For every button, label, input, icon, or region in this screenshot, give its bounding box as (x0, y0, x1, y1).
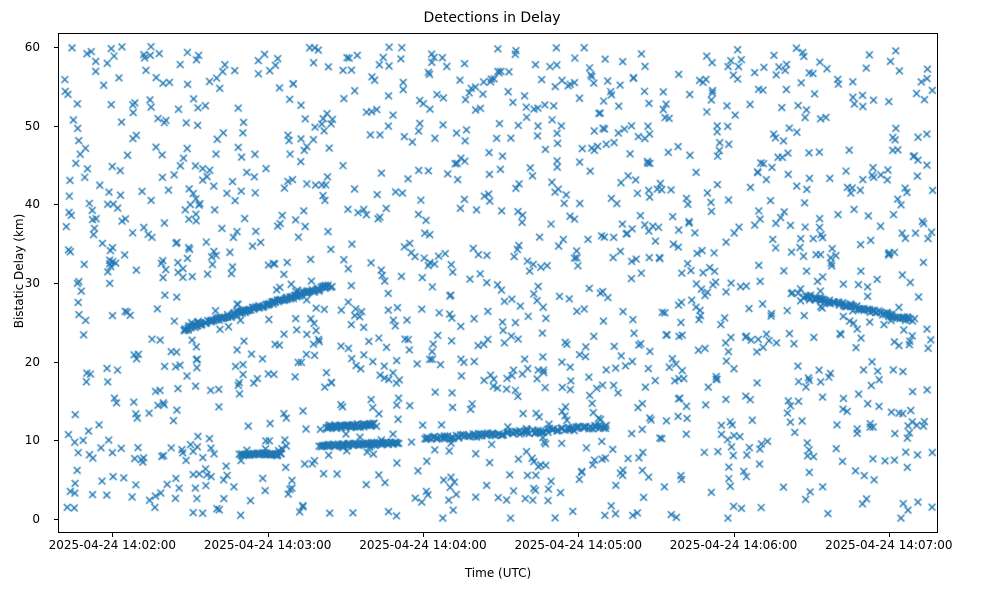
y-axis-tick-label: 10 (25, 434, 40, 446)
y-axis-tick-label: 30 (25, 277, 40, 289)
x-axis-tick-mark (112, 533, 113, 537)
y-axis-tick-label: 60 (25, 41, 40, 53)
scatter-points-layer (59, 34, 938, 533)
y-axis-tick-label: 20 (25, 356, 40, 368)
y-axis-tick-mark (54, 283, 58, 284)
x-axis-tick-label: 2025-04-24 14:02:00 (49, 539, 176, 551)
y-axis-tick-mark (54, 362, 58, 363)
x-axis-tick-label: 2025-04-24 14:06:00 (670, 539, 797, 551)
x-axis-tick-label: 2025-04-24 14:03:00 (204, 539, 331, 551)
plot-area (58, 33, 938, 533)
y-axis-tick-mark (54, 47, 58, 48)
x-axis-tick-mark (734, 533, 735, 537)
y-axis-tick-mark (54, 126, 58, 127)
y-axis-tick-label: 40 (25, 198, 40, 210)
x-axis-tick-mark (423, 533, 424, 537)
matplotlib-figure: Detections in Delay Bistatic Delay (km) … (0, 0, 984, 590)
y-axis-tick-mark (54, 519, 58, 520)
x-axis-tick-label: 2025-04-24 14:04:00 (359, 539, 486, 551)
x-axis-tick-label: 2025-04-24 14:07:00 (825, 539, 952, 551)
y-axis-tick-mark (54, 440, 58, 441)
y-axis-tick-mark (54, 204, 58, 205)
page-title: Detections in Delay (0, 9, 984, 27)
x-axis-tick-mark (578, 533, 579, 537)
y-axis-tick-label: 50 (25, 120, 40, 132)
x-axis-tick-label: 2025-04-24 14:05:00 (515, 539, 642, 551)
x-axis-label: Time (UTC) (58, 566, 938, 580)
x-axis-tick-mark (268, 533, 269, 537)
y-axis-tick-label: 0 (32, 513, 40, 525)
x-axis-tick-mark (889, 533, 890, 537)
